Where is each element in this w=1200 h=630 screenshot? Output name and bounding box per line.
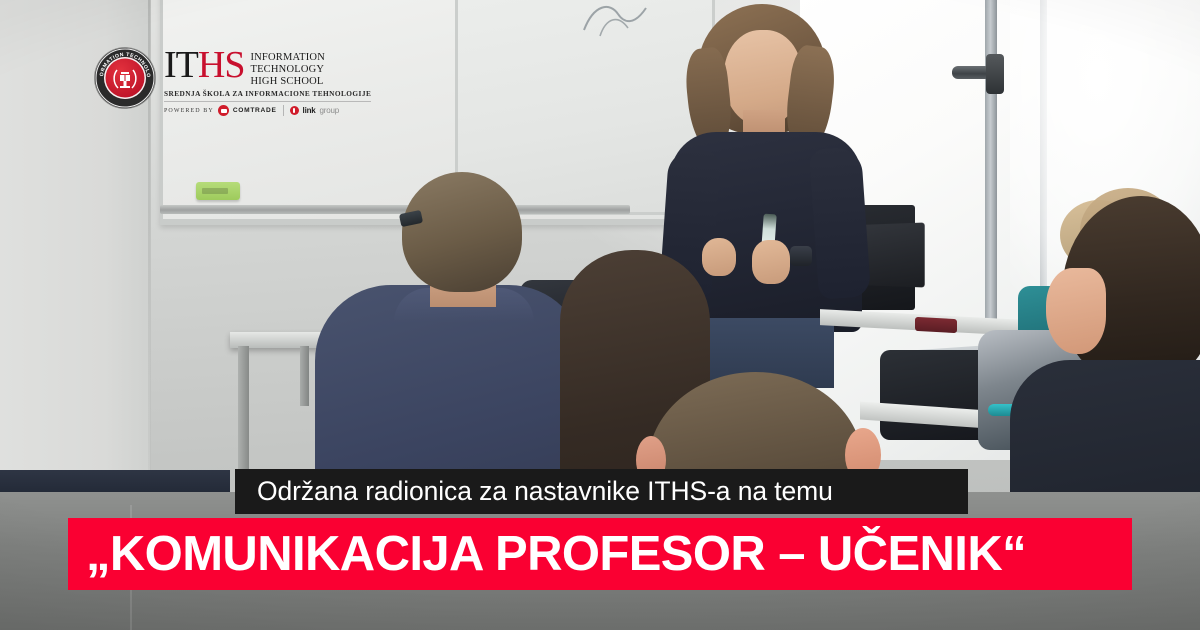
board-eraser — [196, 182, 240, 200]
article-hero-banner: INFORMATION TECHNOLOGY ★ SCHOOL ★ ITHS — [0, 0, 1200, 630]
caption-title-band: „KOMUNIKACIJA PROFESOR – UČENIK“ — [68, 518, 1132, 590]
school-name-line-3: HIGH SCHOOL — [250, 76, 325, 88]
iths-seal-icon: INFORMATION TECHNOLOGY ★ SCHOOL ★ — [95, 48, 155, 108]
school-name-line-1: INFORMATION — [250, 52, 325, 64]
comtrade-mark-icon — [218, 105, 229, 116]
linkgroup-group: group — [320, 106, 339, 115]
comtrade-name: COMTRADE — [233, 107, 277, 114]
teacher-wristwatch — [790, 246, 812, 266]
window-handle — [952, 66, 998, 79]
caption-subtitle: Održana radionica za nastavnike ITHS-a n… — [257, 476, 833, 507]
school-name-line-2: TECHNOLOGY — [250, 64, 325, 76]
logo-wordmark: ITHS INFORMATION TECHNOLOGY HIGH SCHOOL … — [164, 48, 371, 116]
acronym-it: IT — [164, 44, 198, 86]
school-name-serbian: SREDNJA ŠKOLA ZA INFORMACIONE TEHNOLOGIJ… — [164, 89, 371, 102]
laurel-book-emblem-icon — [110, 63, 140, 93]
teacher-hand-right — [752, 240, 790, 284]
partner-divider — [283, 105, 284, 116]
smartphone — [915, 317, 957, 333]
teacher-hand-left — [702, 238, 736, 276]
powered-by-label: POWERED BY — [164, 108, 214, 114]
attendee-right-face — [1046, 268, 1106, 354]
attendee-navy-head — [402, 172, 522, 292]
acronym-hs: HS — [198, 44, 245, 86]
linkgroup-link: link — [303, 106, 316, 115]
linkgroup-mark-icon — [290, 106, 299, 115]
desk-left-leg-back — [300, 346, 309, 406]
caption-title: „KOMUNIKACIJA PROFESOR – UČENIK“ — [86, 526, 1026, 582]
iths-acronym: ITHS — [164, 49, 244, 82]
caption-subtitle-band: Održana radionica za nastavnike ITHS-a n… — [235, 469, 968, 514]
teacher-arm-right — [809, 146, 871, 299]
powered-by-row: POWERED BY COMTRADE link group — [164, 105, 371, 116]
iths-logo[interactable]: INFORMATION TECHNOLOGY ★ SCHOOL ★ ITHS — [95, 48, 371, 116]
whiteboard-marker-tray — [160, 205, 630, 214]
school-full-name: INFORMATION TECHNOLOGY HIGH SCHOOL — [250, 49, 325, 87]
